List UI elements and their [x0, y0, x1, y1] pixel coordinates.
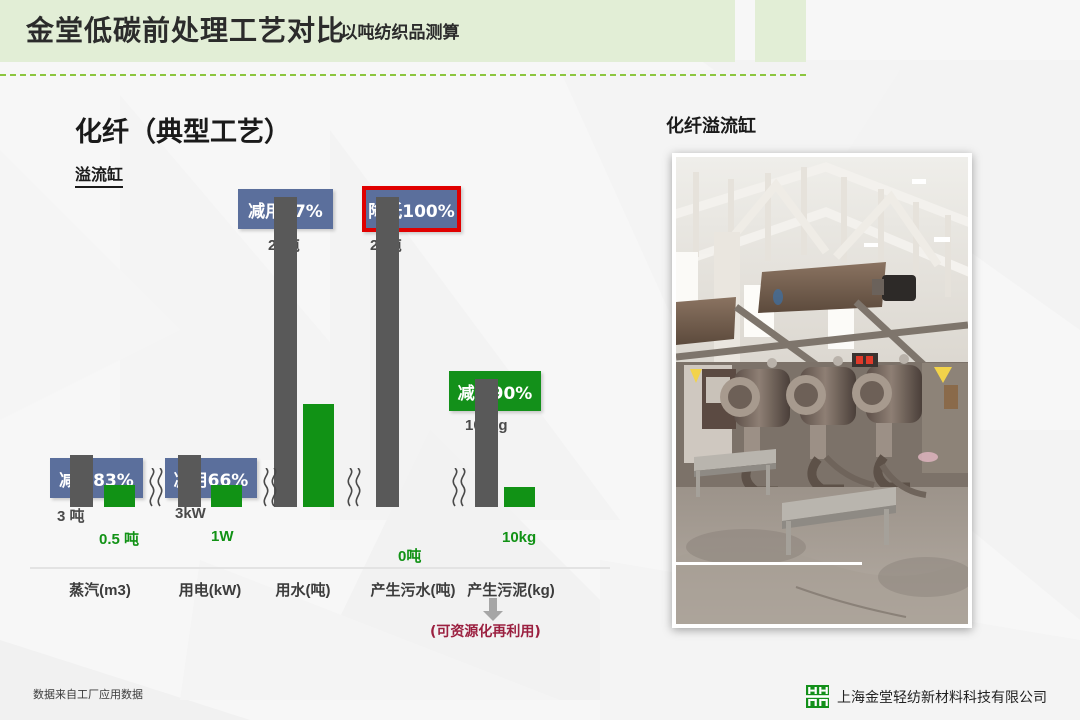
- category-label-5: 产生污泥(kg): [446, 579, 576, 600]
- bar-gray-3: [274, 197, 297, 507]
- value-label-gray-2: 3kW: [175, 505, 206, 522]
- header-accent-block: [755, 0, 806, 62]
- bar-green-1: [104, 485, 135, 507]
- brand-block: 上海金堂轻纺新材料科技有限公司: [806, 685, 1047, 708]
- bar-gray-1: [70, 455, 93, 507]
- company-name: 上海金堂轻纺新材料科技有限公司: [837, 687, 1047, 707]
- bar-gray-2: [178, 455, 201, 507]
- category-label-3: 用水(吨): [248, 579, 358, 600]
- photo-heading: 化纤溢流缸: [666, 112, 756, 138]
- bar-gray-5: [475, 379, 498, 507]
- value-label-green-1: 0.5 吨: [99, 528, 139, 549]
- jintang-logo-icon: [806, 685, 829, 708]
- category-label-1: 蒸汽(m3): [40, 579, 160, 600]
- value-label-gray-1: 3 吨: [57, 505, 85, 526]
- bar-green-3: [303, 404, 334, 507]
- bar-green-5: [504, 487, 535, 507]
- value-label-green-4: 0吨: [398, 545, 421, 566]
- axis-break-icon-2: [256, 468, 282, 508]
- bar-chart: 减用83% 3 吨 0.5 吨 蒸汽(m3) 减用66% 3kW 1W 用电(k…: [0, 0, 620, 660]
- value-label-green-2: 1W: [211, 528, 234, 545]
- reuse-note: (可资源化再利用): [430, 621, 541, 641]
- photo-white-underline: [672, 562, 862, 565]
- bar-green-2: [211, 485, 242, 507]
- factory-photo: [672, 153, 972, 628]
- axis-break-icon-4: [445, 468, 471, 508]
- footnote: 数据来自工厂应用数据: [33, 686, 143, 702]
- axis-break-icon-3: [340, 468, 366, 508]
- value-label-green-5: 10kg: [502, 529, 536, 546]
- down-arrow-icon: [482, 598, 504, 622]
- bar-gray-4: [376, 197, 399, 507]
